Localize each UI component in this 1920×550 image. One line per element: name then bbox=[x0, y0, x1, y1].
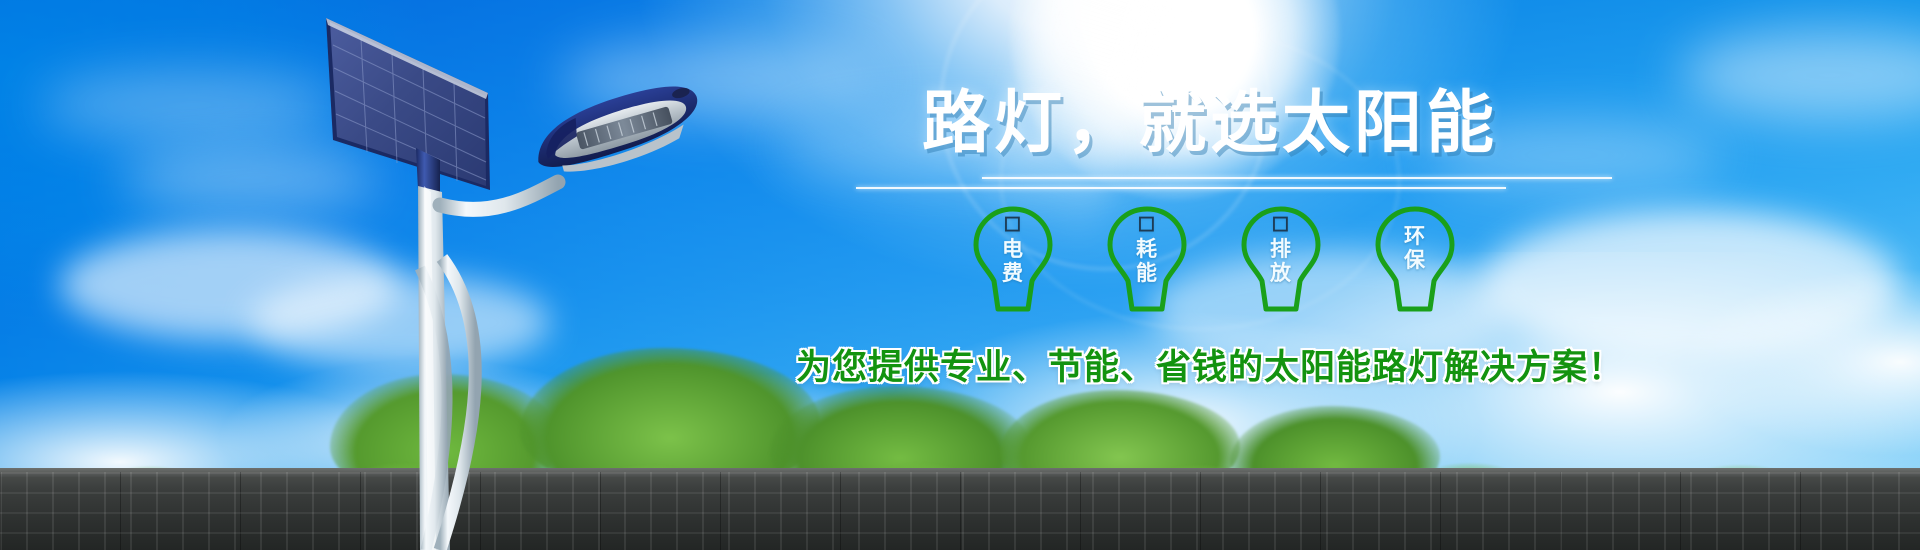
divider bbox=[760, 173, 1660, 195]
badge-line-1: 环 bbox=[1404, 225, 1426, 249]
feature-badge-eco-friendly: 环 保 bbox=[1370, 205, 1460, 313]
badge-zero-glyph: □ bbox=[1006, 211, 1021, 237]
badge-line-2: 保 bbox=[1404, 249, 1426, 273]
feature-badge-list: □ 电 费 □ 耗 能 □ bbox=[760, 205, 1660, 313]
badge-line-1: 耗 bbox=[1136, 238, 1158, 262]
badge-text: □ 耗 能 bbox=[1102, 211, 1192, 285]
feature-badge-zero-emission: □ 排 放 bbox=[1236, 205, 1326, 313]
divider-line-top bbox=[982, 177, 1612, 179]
brick-wall bbox=[0, 472, 1920, 550]
badge-text: □ 排 放 bbox=[1236, 211, 1326, 285]
solar-street-lamp-banner: 路灯，就选太阳能 □ 电 费 □ bbox=[0, 0, 1920, 550]
page-title: 路灯，就选太阳能 bbox=[760, 88, 1660, 159]
tagline: 为您提供专业、节能、省钱的太阳能路灯解决方案！ bbox=[760, 339, 1660, 390]
led-lamp-head bbox=[527, 76, 708, 184]
badge-zero-glyph: □ bbox=[1274, 211, 1289, 237]
badge-text: □ 电 费 bbox=[968, 211, 1058, 285]
wall-tile-pattern bbox=[0, 472, 1920, 550]
badge-text: 环 保 bbox=[1370, 225, 1460, 272]
divider-line-bottom bbox=[856, 187, 1506, 189]
badge-line-2: 能 bbox=[1136, 262, 1158, 286]
badge-line-1: 电 bbox=[1002, 238, 1024, 262]
feature-badge-zero-electricity-fee: □ 电 费 bbox=[968, 205, 1058, 313]
cloud-wisp-1 bbox=[40, 70, 340, 140]
ground-scene bbox=[0, 418, 1920, 550]
badge-line-1: 排 bbox=[1270, 238, 1292, 262]
solar-street-lamp bbox=[300, 0, 780, 550]
solar-panel-icon bbox=[326, 18, 490, 190]
badge-zero-glyph: □ bbox=[1140, 211, 1155, 237]
badge-line-2: 费 bbox=[1002, 262, 1024, 286]
badge-line-2: 放 bbox=[1270, 262, 1292, 286]
banner-copy: 路灯，就选太阳能 □ 电 费 □ bbox=[760, 88, 1660, 390]
feature-badge-zero-energy-use: □ 耗 能 bbox=[1102, 205, 1192, 313]
